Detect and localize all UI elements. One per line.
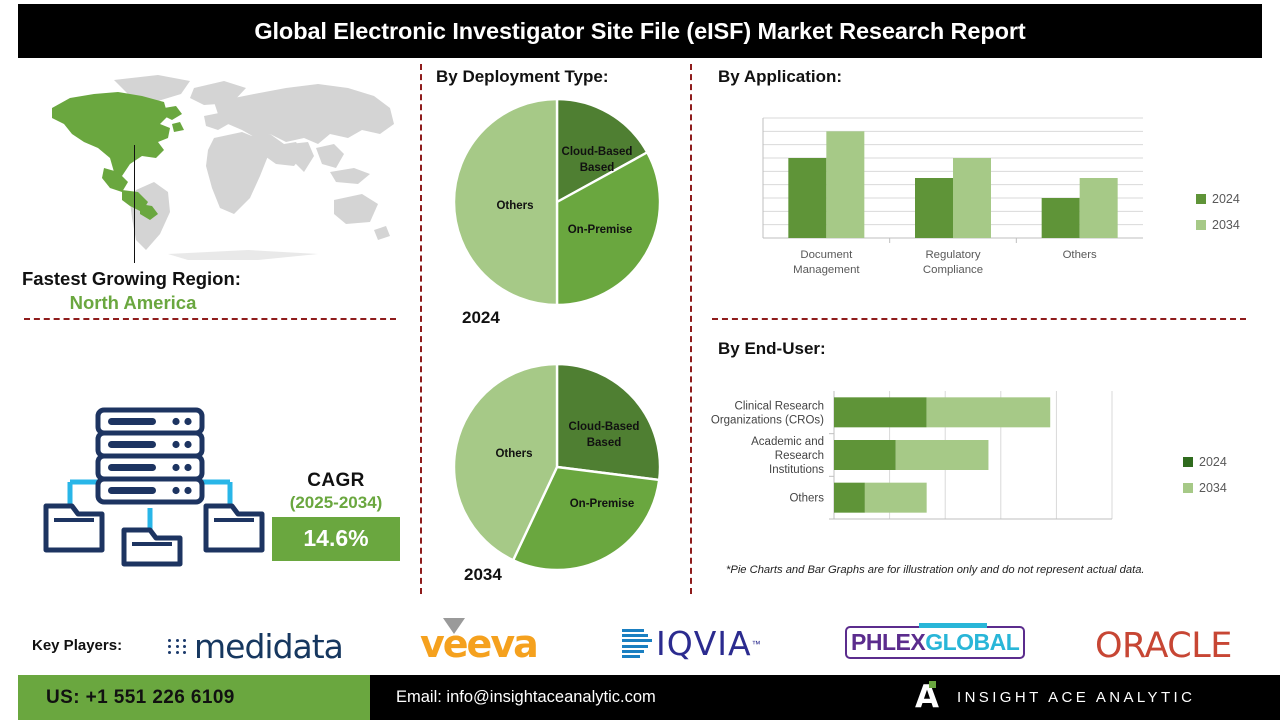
phlex-wordmark-a: PHLEX (851, 629, 925, 655)
pie-2024-label-cloud: Cloud-Based (562, 146, 633, 158)
key-players-label: Key Players: (32, 637, 122, 654)
pie-2034-label-others: Others (495, 448, 532, 460)
phlex-wordmark-b: GLOBAL (925, 629, 1019, 655)
email-address: Email: info@insightaceanalytic.com (396, 688, 656, 707)
application-bar-chart: DocumentManagementRegulatoryComplianceOt… (745, 110, 1195, 285)
svg-text:Document: Document (800, 249, 853, 261)
phlex-box: PHLEXGLOBAL (845, 626, 1025, 659)
logo-medidata: medidata (168, 627, 343, 666)
logo-veeva: veeva (420, 622, 537, 666)
vertical-divider-left (420, 64, 422, 594)
logo-phlexglobal: PHLEXGLOBAL (845, 626, 1025, 659)
chart-disclaimer: *Pie Charts and Bar Graphs are for illus… (726, 564, 1145, 576)
page-title: Global Electronic Investigator Site File… (254, 18, 1025, 45)
iqvia-trademark: ™ (752, 639, 761, 649)
application-chart-legend: 2024 2034 (1196, 192, 1240, 244)
svg-text:Institutions: Institutions (769, 464, 824, 476)
iqvia-bars-icon (622, 629, 652, 659)
enduser-section-title: By End-User: (718, 339, 826, 359)
header-band: Global Electronic Investigator Site File… (18, 4, 1262, 58)
legend-item-2034-eu: 2034 (1183, 481, 1227, 495)
phlex-accent-bar (919, 623, 987, 628)
pie-chart-2024: Cloud-Based Based On-Premise Others (452, 97, 674, 312)
pie-2024-label-others: Others (496, 200, 533, 212)
phone-bar: US: +1 551 226 6109 (18, 675, 370, 720)
oracle-wordmark: ORACLE (1095, 626, 1232, 666)
pie-2034-label-onprem: On-Premise (570, 498, 635, 510)
horizontal-divider-left (24, 318, 396, 320)
region-title: Fastest Growing Region: (22, 268, 402, 290)
veeva-wordmark: veeva (420, 622, 537, 666)
cagr-value: 14.6% (272, 517, 400, 561)
enduser-bar-chart: Clinical ResearchOrganizations (CROs)Aca… (712, 385, 1132, 560)
svg-text:Compliance: Compliance (923, 264, 983, 276)
brand-block: A INSIGHT ACE ANALYTIC (915, 675, 1195, 720)
svg-text:Research: Research (775, 450, 824, 462)
medidata-wordmark: medidata (194, 627, 343, 666)
application-section-title: By Application: (718, 67, 842, 87)
medidata-dots-icon (168, 639, 188, 654)
pie-2024-label-onprem: On-Premise (568, 224, 633, 236)
cagr-block: CAGR (2025-2034) 14.6% (272, 470, 400, 561)
pie-2024-label-cloud-2: Based (580, 162, 615, 174)
phone-number: US: +1 551 226 6109 (46, 687, 235, 709)
logo-iqvia: IQVIA ™ (622, 624, 761, 663)
legend-item-2034: 2034 (1196, 218, 1240, 232)
legend-swatch-2024 (1196, 194, 1206, 204)
svg-text:Academic and: Academic and (751, 436, 824, 448)
pie-2034-label-cloud-2: Based (587, 437, 622, 449)
insightace-logo-icon: A (915, 682, 941, 714)
legend-label-2024: 2024 (1212, 192, 1240, 206)
iqvia-wordmark: IQVIA (656, 624, 752, 663)
world-map-icon (18, 72, 408, 262)
pie-chart-2034: Cloud-Based Based On-Premise Others (452, 355, 674, 580)
legend-swatch-2034-eu (1183, 483, 1193, 493)
legend-label-2034-eu: 2034 (1199, 481, 1227, 495)
cagr-title: CAGR (272, 470, 400, 492)
veeva-triangle-icon (443, 618, 465, 634)
pie-2034-year: 2034 (464, 565, 502, 585)
pie-2034-label-cloud: Cloud-Based (569, 421, 640, 433)
vertical-divider-right (690, 64, 692, 594)
svg-text:Regulatory: Regulatory (925, 249, 980, 261)
svg-text:Clinical Research: Clinical Research (735, 400, 824, 412)
legend-label-2034: 2034 (1212, 218, 1240, 232)
logo-oracle: ORACLE (1095, 626, 1232, 666)
legend-item-2024: 2024 (1196, 192, 1240, 206)
fastest-growing-region-block: Fastest Growing Region: North America (22, 268, 402, 314)
deployment-section-title: By Deployment Type: (436, 67, 609, 87)
region-value: North America (22, 292, 244, 314)
brand-square-accent (929, 681, 936, 688)
server-database-icon (24, 378, 276, 568)
svg-text:Others: Others (1063, 249, 1097, 261)
cagr-range: (2025-2034) (272, 493, 400, 513)
legend-swatch-2034 (1196, 220, 1206, 230)
contact-bar: Email: info@insightaceanalytic.com A INS… (370, 675, 1280, 720)
map-pointer-line (134, 145, 135, 263)
legend-label-2024-eu: 2024 (1199, 455, 1227, 469)
legend-swatch-2024-eu (1183, 457, 1193, 467)
horizontal-divider-right (712, 318, 1246, 320)
svg-text:Organizations (CROs): Organizations (CROs) (711, 414, 824, 426)
pie-2024-year: 2024 (462, 308, 500, 328)
brand-name: INSIGHT ACE ANALYTIC (957, 689, 1195, 706)
enduser-chart-legend: 2024 2034 (1183, 455, 1227, 507)
svg-text:Others: Others (789, 493, 824, 505)
svg-text:Management: Management (793, 264, 860, 276)
legend-item-2024-eu: 2024 (1183, 455, 1227, 469)
